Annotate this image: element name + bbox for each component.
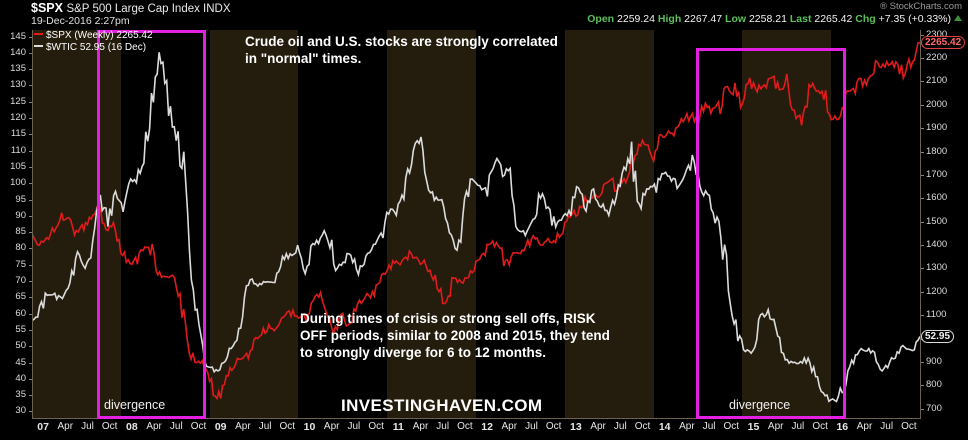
left-axis-tick: 145 (2, 32, 26, 41)
chart-screenshot: $SPX S&P 500 Large Cap Index INDX 19-Dec… (0, 0, 968, 440)
x-axis-year-label: 09 (215, 421, 227, 433)
tick-mark (29, 200, 32, 201)
left-axis-tick: 115 (2, 129, 26, 138)
tick-mark (29, 297, 32, 298)
tick-mark (29, 411, 32, 412)
x-axis-year-label: 12 (481, 421, 493, 433)
quote-timestamp: 19-Dec-2016 2:27pm (31, 15, 130, 27)
high-label: High (658, 13, 681, 25)
x-axis-month-label: Oct (901, 421, 917, 432)
left-axis-tick: 60 (2, 309, 26, 318)
right-axis-tick: 1100 (926, 310, 966, 319)
left-axis-tick: 30 (2, 406, 26, 415)
tick-mark (29, 265, 32, 266)
left-axis-tick: 130 (2, 80, 26, 89)
tick-mark (921, 362, 924, 363)
left-axis-tick: 135 (2, 64, 26, 73)
x-axis-year-label: 13 (570, 421, 582, 433)
tick-mark (29, 216, 32, 217)
up-triangle-icon (954, 15, 962, 21)
tick-mark (921, 35, 924, 36)
x-axis-month-label: Oct (457, 421, 473, 432)
legend-wtic-label: $WTIC 52.95 (16 Dec) (46, 42, 146, 53)
x-axis-year-label: 11 (393, 421, 404, 433)
x-axis-year-label: 14 (659, 421, 671, 433)
left-axis-tick: 75 (2, 260, 26, 269)
right-axis-tick: 2200 (926, 53, 966, 62)
x-axis-year-label: 07 (37, 421, 49, 433)
tick-mark (29, 281, 32, 282)
right-axis-tick: 1200 (926, 287, 966, 296)
risk-off-note: During times of crisis or strong sell of… (300, 310, 610, 361)
x-axis-month-label: Oct (191, 421, 207, 432)
left-axis-tick: 120 (2, 113, 26, 122)
tick-mark (921, 175, 924, 176)
spx-color-swatch (34, 33, 43, 35)
tick-mark (29, 167, 32, 168)
x-axis-month-label: Apr (590, 421, 606, 432)
wtic-color-swatch (34, 45, 43, 47)
tick-mark (29, 85, 32, 86)
wtic-price-tag: 52.95 (921, 330, 954, 343)
tick-mark (29, 330, 32, 331)
right-axis-tick: 900 (926, 357, 966, 366)
x-axis-month-label: Apr (679, 421, 695, 432)
open-label: Open (587, 13, 614, 25)
right-axis-tick: 1600 (926, 193, 966, 202)
left-axis-tick: 70 (2, 276, 26, 285)
right-axis-tick: 800 (926, 380, 966, 389)
x-axis-month-label: Apr (857, 421, 873, 432)
right-axis-tick: 2100 (926, 76, 966, 85)
left-axis-tick: 35 (2, 390, 26, 399)
low-label: Low (725, 13, 746, 25)
x-axis-month-label: Jul (81, 421, 94, 432)
last-label: Last (790, 13, 812, 25)
tick-mark (921, 385, 924, 386)
tick-mark (29, 69, 32, 70)
left-axis-tick: 100 (2, 178, 26, 187)
x-axis-month-label: Apr (502, 421, 518, 432)
tick-mark (29, 314, 32, 315)
watermark: INVESTINGHAVEN.COM (341, 396, 542, 416)
x-axis-month-label: Oct (280, 421, 296, 432)
correlation-note: Crude oil and U.S. stocks are strongly c… (245, 33, 558, 67)
right-axis-tick: 1500 (926, 217, 966, 226)
left-axis-tick: 80 (2, 243, 26, 252)
tick-mark (921, 409, 924, 410)
x-axis-month-label: Oct (635, 421, 651, 432)
left-axis-tick: 125 (2, 97, 26, 106)
tick-mark (921, 105, 924, 106)
tick-mark (29, 395, 32, 396)
left-axis-tick: 50 (2, 341, 26, 350)
series-legend: $SPX (Weekly) 2265.42 $WTIC 52.95 (16 De… (34, 30, 153, 53)
x-axis-month-label: Apr (146, 421, 162, 432)
x-axis-year-label: 08 (126, 421, 138, 433)
x-axis-month-label: Oct (724, 421, 740, 432)
left-axis-tick: 85 (2, 227, 26, 236)
x-axis-month-label: Jul (880, 421, 893, 432)
divergence-box-2008-label: divergence (104, 398, 165, 412)
divergence-box-2015 (696, 48, 846, 419)
tick-mark (29, 232, 32, 233)
divergence-box-2015-label: divergence (729, 398, 790, 412)
x-axis-month-label: Apr (235, 421, 251, 432)
x-axis-month-label: Apr (768, 421, 784, 432)
tick-mark (29, 151, 32, 152)
left-axis-tick: 90 (2, 211, 26, 220)
tick-mark (921, 222, 924, 223)
legend-row-wtic: $WTIC 52.95 (16 Dec) (34, 42, 153, 54)
left-axis-tick: 105 (2, 162, 26, 171)
right-axis-tick: 1700 (926, 170, 966, 179)
x-axis-month-label: Jul (791, 421, 804, 432)
x-axis-month-label: Jul (436, 421, 449, 432)
left-axis-line (32, 30, 33, 418)
tick-mark (29, 379, 32, 380)
tick-mark (921, 292, 924, 293)
x-axis-year-label: 10 (304, 421, 316, 433)
open-value: 2259.24 (617, 13, 655, 25)
left-axis-tick: 55 (2, 325, 26, 334)
quote-bar: Open 2259.24 High 2267.47 Low 2258.21 La… (587, 13, 962, 25)
tick-mark (29, 102, 32, 103)
left-axis-tick: 65 (2, 292, 26, 301)
x-axis-month-label: Jul (259, 421, 272, 432)
left-axis-tick: 95 (2, 195, 26, 204)
right-axis-tick: 1300 (926, 263, 966, 272)
chg-value: +7.35 (+0.33%) (879, 13, 951, 25)
x-axis-year-label: 15 (748, 421, 760, 433)
tick-mark (921, 128, 924, 129)
tick-mark (921, 315, 924, 316)
tick-mark (921, 245, 924, 246)
x-axis-month-label: Oct (812, 421, 828, 432)
left-axis-tick: 40 (2, 374, 26, 383)
symbol-description: S&P 500 Large Cap Index INDX (66, 3, 230, 15)
legend-row-spx: $SPX (Weekly) 2265.42 (34, 30, 153, 42)
tick-mark (921, 268, 924, 269)
tick-mark (921, 152, 924, 153)
tick-mark (29, 363, 32, 364)
right-axis-tick: 1800 (926, 147, 966, 156)
x-axis-month-label: Jul (525, 421, 538, 432)
right-axis-line (920, 30, 921, 418)
right-axis-tick: 2000 (926, 100, 966, 109)
tick-mark (29, 248, 32, 249)
x-axis-year-label: 16 (836, 421, 848, 433)
left-axis-tick: 45 (2, 358, 26, 367)
tick-mark (921, 58, 924, 59)
left-axis-tick: 140 (2, 48, 26, 57)
right-axis-tick: 700 (926, 404, 966, 413)
tick-mark (29, 134, 32, 135)
spx-price-tag: 2265.42 (921, 36, 965, 49)
left-axis-tick: 110 (2, 146, 26, 155)
tick-mark (29, 183, 32, 184)
divergence-box-2008 (97, 30, 206, 419)
symbol-title: $SPX S&P 500 Large Cap Index INDX (31, 1, 231, 15)
x-axis-month-label: Oct (368, 421, 384, 432)
x-axis-month-label: Apr (413, 421, 429, 432)
x-axis-month-label: Oct (546, 421, 562, 432)
chg-label: Chg (855, 13, 875, 25)
tick-mark (29, 346, 32, 347)
stockcharts-logo: ® StockCharts.com (880, 1, 962, 12)
x-axis-month-label: Apr (58, 421, 74, 432)
right-axis-tick: 1400 (926, 240, 966, 249)
x-axis-month-label: Jul (347, 421, 360, 432)
chart-header: $SPX S&P 500 Large Cap Index INDX 19-Dec… (0, 0, 968, 28)
x-axis-month-label: Jul (703, 421, 716, 432)
high-value: 2267.47 (684, 13, 722, 25)
x-axis-month-label: Jul (170, 421, 183, 432)
tick-mark (921, 198, 924, 199)
low-value: 2258.21 (749, 13, 787, 25)
x-axis-month-label: Oct (102, 421, 118, 432)
x-axis-month-label: Jul (614, 421, 627, 432)
x-axis-month-label: Apr (324, 421, 340, 432)
last-value: 2265.42 (814, 13, 852, 25)
right-axis-tick: 1900 (926, 123, 966, 132)
tick-mark (29, 37, 32, 38)
symbol-ticker: $SPX (31, 1, 63, 15)
legend-spx-label: $SPX (Weekly) 2265.42 (46, 30, 153, 41)
tick-mark (921, 81, 924, 82)
tick-mark (29, 53, 32, 54)
tick-mark (29, 118, 32, 119)
